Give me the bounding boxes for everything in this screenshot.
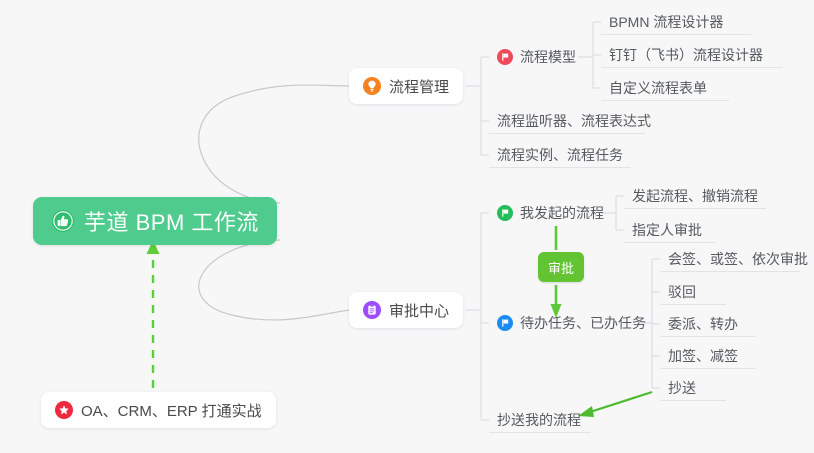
node-label: 发起流程、撤销流程: [632, 186, 758, 206]
node-label: 审批中心: [389, 300, 449, 321]
node-cc[interactable]: 抄送: [660, 375, 726, 401]
node-integration-practice[interactable]: OA、CRM、ERP 打通实战: [41, 392, 276, 428]
node-process-model[interactable]: 流程模型: [489, 44, 582, 70]
node-label: OA、CRM、ERP 打通实战: [81, 400, 262, 421]
node-my-initiated-processes[interactable]: 我发起的流程: [489, 200, 610, 226]
node-label: 流程监听器、流程表达式: [497, 111, 651, 131]
node-label: 指定人审批: [632, 220, 702, 240]
node-process-management[interactable]: 流程管理: [349, 68, 463, 104]
annotation-label: 审批: [548, 258, 574, 277]
node-delegate-transfer[interactable]: 委派、转办: [660, 311, 756, 337]
link-root-to-approval-center: [199, 240, 349, 320]
node-countersign-or-sequential[interactable]: 会签、或签、依次审批: [660, 246, 800, 272]
flag-icon: [497, 49, 513, 65]
root-label: 芋道 BPM 工作流: [84, 205, 259, 237]
node-label: 加签、减签: [668, 346, 738, 366]
node-process-instance-task[interactable]: 流程实例、流程任务: [489, 142, 631, 168]
node-label: 流程实例、流程任务: [497, 145, 623, 165]
node-label: 驳回: [668, 282, 696, 302]
node-label: 流程管理: [389, 76, 449, 97]
node-label: 抄送我的流程: [497, 410, 581, 430]
star-icon: [55, 401, 73, 419]
node-dingtalk-feishu-designer[interactable]: 钉钉（飞书）流程设计器: [601, 42, 783, 68]
node-bpmn-designer[interactable]: BPMN 流程设计器: [601, 9, 751, 35]
node-add-remove-sign[interactable]: 加签、减签: [660, 343, 756, 369]
node-label: 会签、或签、依次审批: [668, 249, 808, 269]
thumbs-up-icon: [51, 209, 75, 233]
node-reject[interactable]: 驳回: [660, 279, 726, 305]
node-label: 我发起的流程: [520, 203, 604, 223]
node-label: BPMN 流程设计器: [609, 12, 723, 32]
node-label: 待办任务、已办任务: [520, 313, 646, 333]
node-approval-center[interactable]: 审批中心: [349, 292, 463, 328]
node-label: 自定义流程表单: [609, 78, 707, 98]
green-footnote-arrow: [147, 240, 160, 388]
annotation-approval-box: 审批: [538, 252, 584, 282]
link-root-to-process-mgmt: [199, 85, 349, 203]
flag-icon: [497, 205, 513, 221]
node-cc-to-me-processes[interactable]: 抄送我的流程: [489, 407, 591, 433]
node-todo-done-tasks[interactable]: 待办任务、已办任务: [489, 310, 652, 336]
node-assigned-approval[interactable]: 指定人审批: [624, 217, 716, 243]
mindmap-canvas: 芋道 BPM 工作流 流程管理 流程模型 BPMN 流程设计器 钉钉（飞书）流程: [0, 0, 814, 453]
node-label: 钉钉（飞书）流程设计器: [609, 45, 763, 65]
flag-icon: [497, 315, 513, 331]
clipboard-icon: [363, 301, 381, 319]
node-label: 委派、转办: [668, 314, 738, 334]
node-process-listener-expression[interactable]: 流程监听器、流程表达式: [489, 108, 645, 134]
root-node[interactable]: 芋道 BPM 工作流: [33, 197, 277, 245]
node-start-cancel-process[interactable]: 发起流程、撤销流程: [624, 183, 766, 209]
node-label: 抄送: [668, 378, 696, 398]
lightbulb-icon: [363, 77, 381, 95]
node-custom-process-form[interactable]: 自定义流程表单: [601, 75, 729, 101]
node-label: 流程模型: [520, 47, 576, 67]
